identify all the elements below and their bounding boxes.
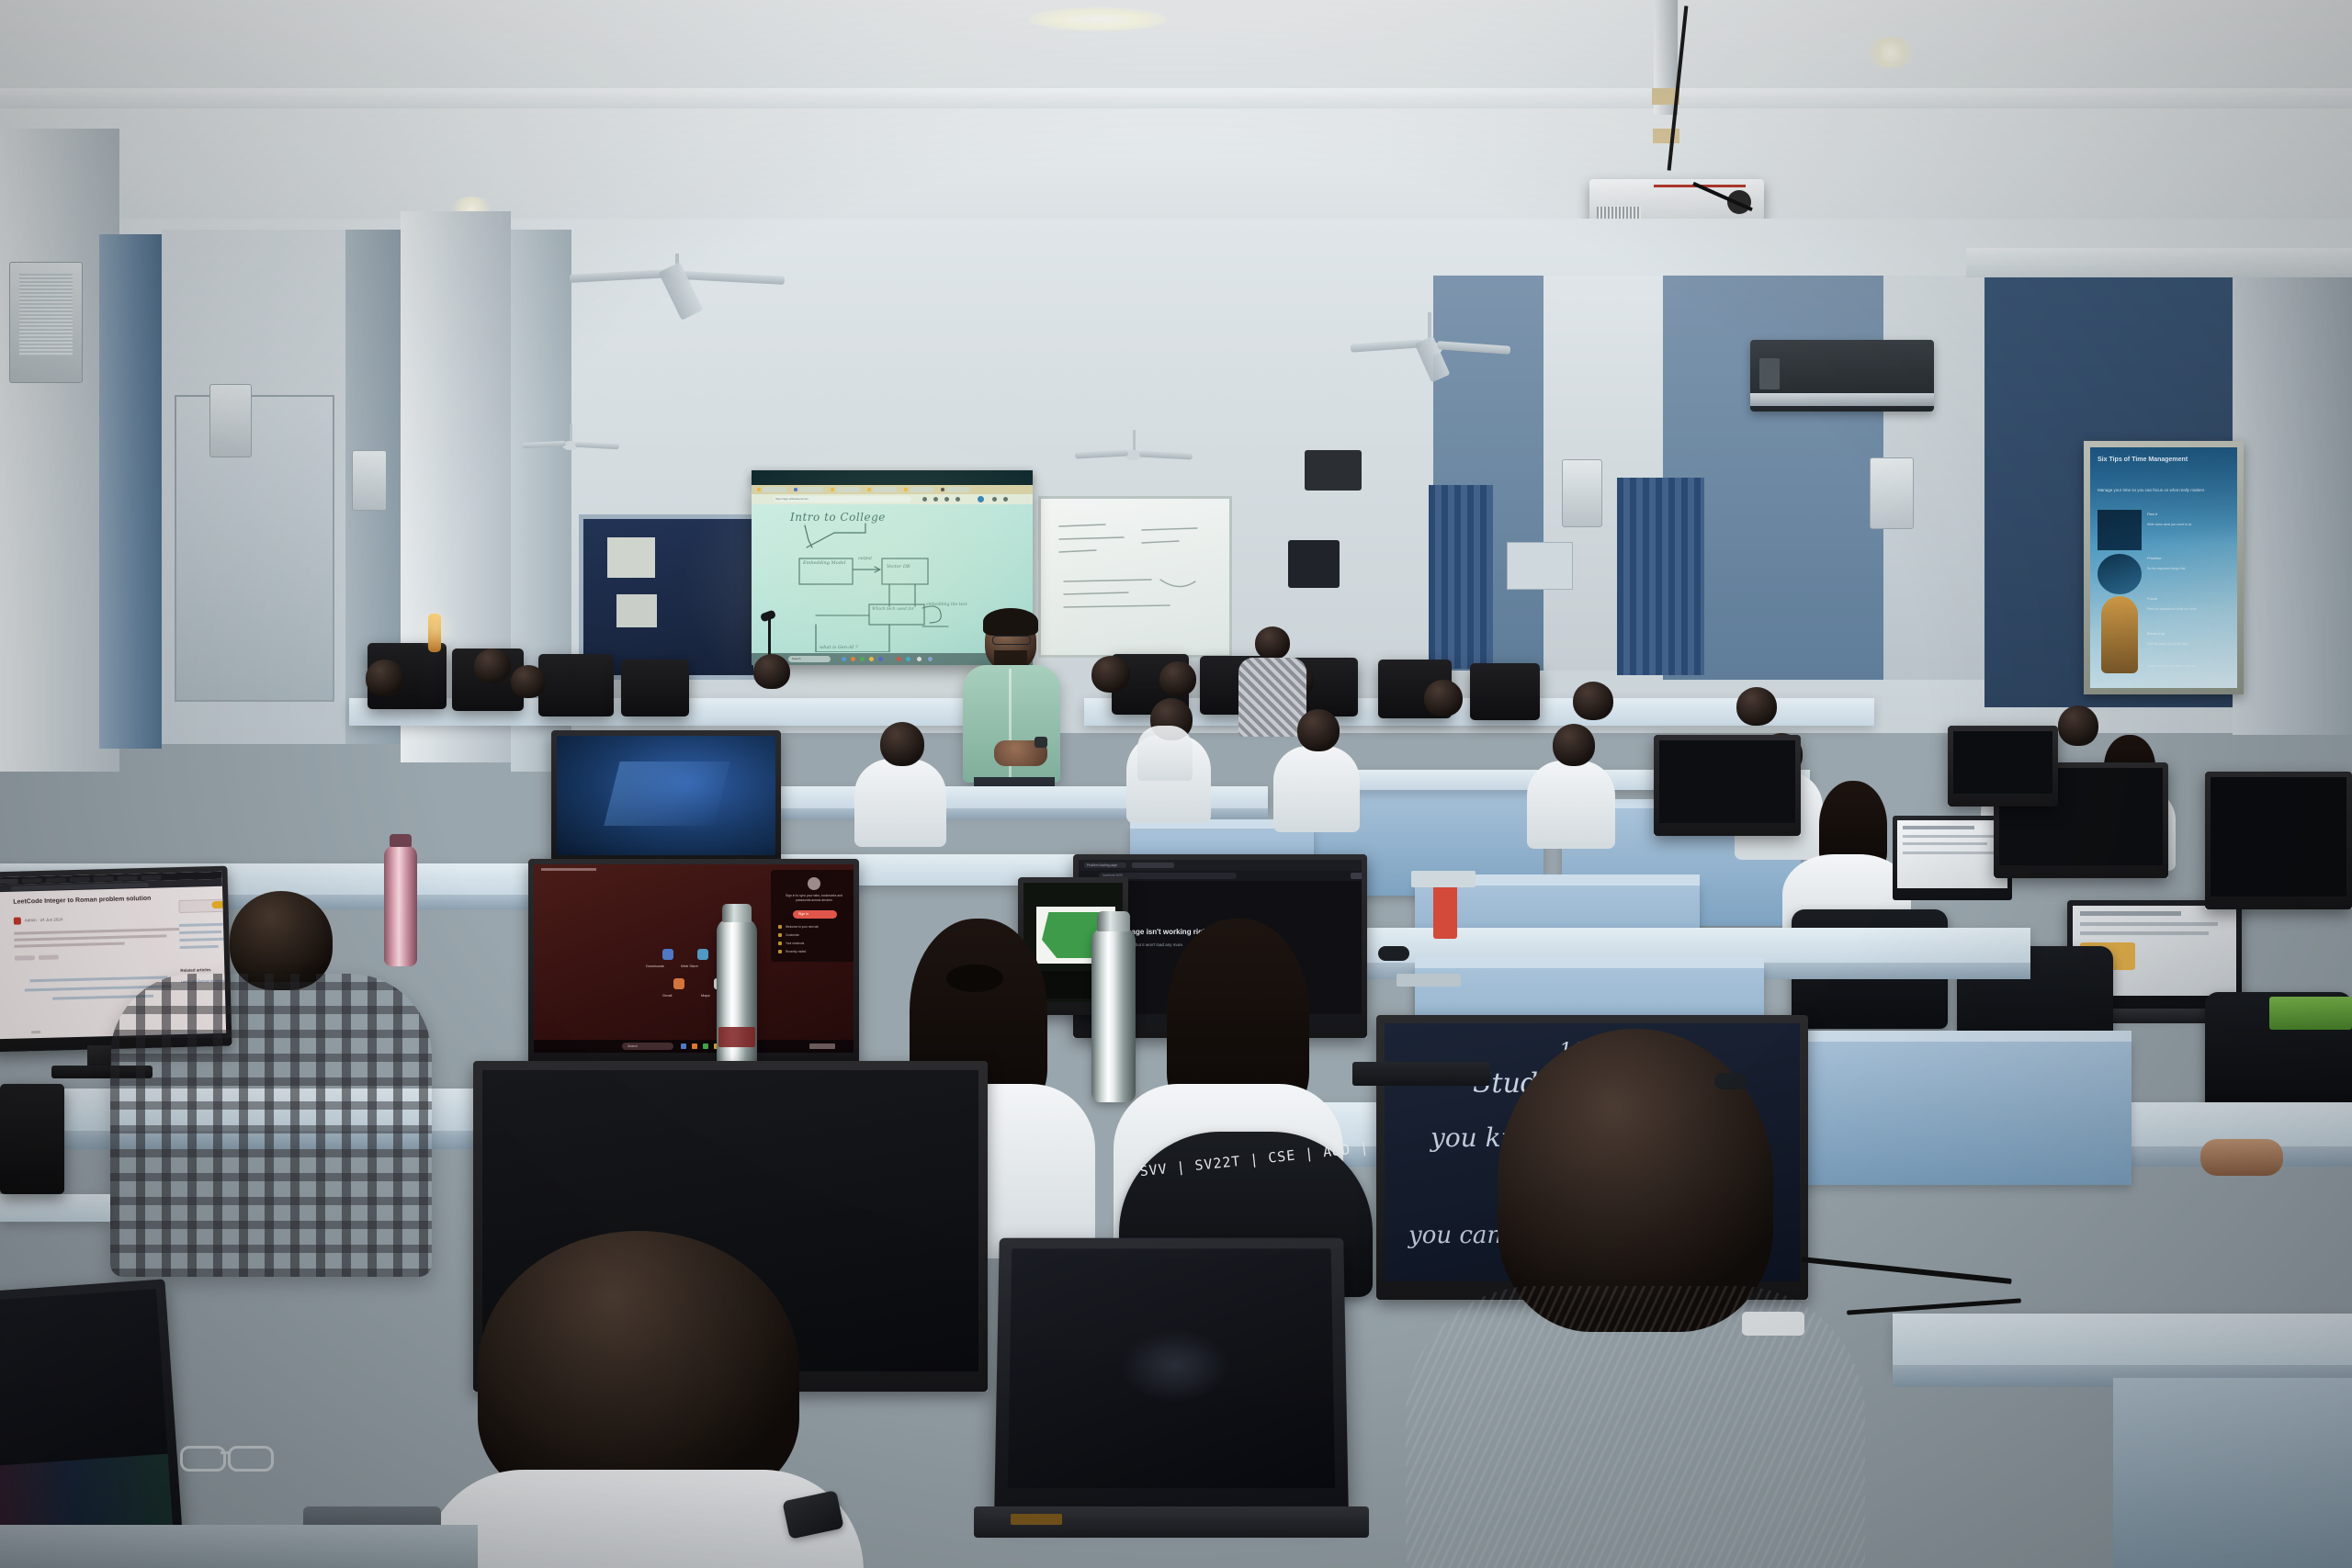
shortcut-label-4: Gmail — [662, 993, 672, 998]
cable-tray — [1396, 974, 1461, 987]
desk-bottom-right — [1893, 1314, 2352, 1369]
bottle-cap-center — [1097, 911, 1130, 931]
notice-paper-1 — [607, 537, 655, 578]
panel-list-icon-4 — [778, 950, 782, 953]
poster-item-2: Prioritise — [2147, 556, 2228, 560]
poster-item-4-text: Split big tasks into small steps — [2147, 642, 2228, 647]
laptop-fr-line-2 — [2080, 922, 2218, 926]
poster-image-3 — [2101, 596, 2138, 673]
panel-list-icon-3 — [778, 942, 782, 945]
wall-speaker-4 — [1562, 459, 1602, 527]
laptop-rm-line-4 — [1903, 852, 1998, 854]
desktop-taskbar-search-label: Search — [628, 1044, 638, 1048]
leetcode-tab-5[interactable] — [94, 875, 114, 881]
wall-pillar-blue-left — [99, 234, 162, 749]
monitor-right-dark-4 — [1948, 726, 2058, 807]
classroom-photo: Six Tips of Time Management Manage your … — [0, 0, 2352, 1568]
leetcode-pill-1[interactable] — [15, 955, 35, 961]
pink-bottle-cap — [390, 834, 412, 847]
projector-pole-tape-2 — [1653, 129, 1679, 143]
shortcut-label-2: Web Store — [681, 964, 698, 968]
leetcode-side-link-3[interactable] — [179, 938, 225, 942]
leetcode-body-line-1 — [14, 928, 179, 935]
eyeglasses-lens-left — [180, 1446, 226, 1472]
ac-louver — [1750, 393, 1934, 406]
mouse-right-mid[interactable] — [1378, 946, 1409, 961]
power-adapter — [1742, 1312, 1804, 1336]
wall-poster: Six Tips of Time Management Manage your … — [2090, 447, 2237, 688]
eyeglasses[interactable] — [180, 1440, 281, 1468]
shortcut-label-5: Maps — [701, 993, 710, 998]
ceiling-soffit — [0, 108, 2352, 219]
leetcode-side-link-4[interactable] — [180, 945, 219, 949]
error-tab-title: Problem loading page — [1087, 863, 1117, 867]
instructor-glasses — [992, 636, 1031, 645]
assistant-head — [1255, 626, 1290, 660]
desk-side-panel-right — [2113, 1378, 2352, 1568]
leetcode-list-1 — [31, 1031, 40, 1033]
laptop-rm-line-1 — [1903, 826, 1974, 829]
panel-list-4[interactable]: Recently visited — [786, 950, 806, 953]
student-head-f3 — [511, 665, 546, 698]
student-hair-bun-center — [946, 964, 1003, 992]
leetcode-search-button[interactable] — [211, 901, 224, 908]
poster-item-3-text: Remove distractions while you work — [2147, 607, 2228, 612]
student-head-f8 — [1424, 680, 1463, 716]
signin-button-label: Sign in — [798, 912, 808, 916]
poster-item-1-text: Write down what you need to do — [2147, 523, 2228, 527]
laptop-rm-screen — [1897, 820, 2007, 888]
student-body-m2 — [1273, 746, 1360, 832]
desk-far-left-edge — [0, 1194, 110, 1222]
instructor-hair — [983, 608, 1038, 636]
poster-item-5-text: Check what you got done each day — [2147, 664, 2228, 668]
steel-bottle-center[interactable] — [1091, 928, 1136, 1102]
student-head-m2 — [1297, 709, 1340, 751]
student-head-m5 — [880, 722, 924, 766]
pink-bottle-far-left[interactable] — [384, 845, 417, 966]
leetcode-tab-3[interactable] — [46, 877, 66, 883]
monitor-right-dark-3 — [1654, 735, 1801, 836]
leetcode-side-link-1[interactable] — [179, 923, 226, 927]
eyeglasses-lens-right — [228, 1446, 274, 1472]
signin-panel: Sign in to sync your tabs, bookmarks and… — [771, 870, 854, 962]
wall-far-right — [2233, 257, 2352, 735]
laptop-fr-line-3 — [2080, 931, 2209, 935]
instructor-watch — [1035, 737, 1047, 748]
socket-box-red — [1433, 882, 1457, 939]
student-head-r3 — [2058, 705, 2098, 746]
leetcode-body-line-2 — [14, 934, 166, 941]
leetcode-tab-7[interactable] — [141, 874, 162, 880]
ceiling-light-1 — [1029, 7, 1167, 31]
laptop-front-center-screen — [1008, 1248, 1335, 1488]
poster-subtitle: Manage your time so you can focus on wha… — [2098, 488, 2208, 493]
leetcode-page-title: LeetCode Integer to Roman problem soluti… — [13, 895, 169, 907]
error-tabstrip: Problem loading page — [1079, 860, 1362, 871]
shortcut-icon-4[interactable] — [673, 978, 684, 989]
monitor-far-left-edge — [0, 1084, 64, 1194]
poster-image-1 — [2098, 510, 2142, 550]
steel-bottle-left[interactable] — [717, 919, 757, 1080]
desktop-taskbar: Search — [534, 1040, 854, 1053]
student-head-f5 — [1091, 656, 1130, 693]
ac-panel-badge — [1759, 358, 1780, 389]
student-patterned-shirt — [110, 974, 432, 1277]
wall-mounted-box — [1288, 540, 1340, 588]
fan-rod-3 — [1133, 430, 1136, 452]
tb-icon-2[interactable] — [692, 1043, 697, 1049]
leetcode-related-heading: Related articles — [180, 967, 210, 973]
laptop-bottom-left-screen — [0, 1289, 173, 1542]
student-head-m3 — [1553, 724, 1595, 766]
leetcode-link-line-1[interactable] — [30, 976, 168, 982]
socket-box-top — [1411, 871, 1476, 887]
wall-speaker-mid — [209, 384, 252, 457]
error-tab-2[interactable] — [1132, 863, 1174, 868]
green-notebook — [2269, 997, 2352, 1030]
shortcut-icon-2[interactable] — [697, 949, 708, 960]
fan-rod-4 — [570, 424, 572, 443]
wall-speaker-3 — [352, 450, 387, 511]
student-head-f9 — [1573, 682, 1613, 720]
laptop-front-center[interactable] — [994, 1238, 1349, 1513]
door-left[interactable] — [175, 395, 334, 702]
person-foot-right — [2200, 1139, 2283, 1176]
poster-item-1: Plan it — [2147, 512, 2228, 518]
leetcode-side-link-2[interactable] — [179, 931, 221, 934]
monitor-far-4 — [621, 660, 689, 716]
panel-list-icon-1 — [778, 925, 782, 929]
speaker-grille — [19, 274, 73, 356]
keyboard-right-mid[interactable] — [1352, 1062, 1490, 1086]
student-head-f2 — [474, 649, 511, 683]
assistant-checked-shirt — [1238, 658, 1306, 737]
leetcode-tab-1[interactable] — [0, 878, 18, 884]
laptop-sticker — [1011, 1514, 1062, 1525]
decor-lamp-glow — [413, 606, 458, 650]
split-ac-unit — [1750, 340, 1934, 412]
desk-cable-2 — [1847, 1298, 2021, 1314]
tb-icon-3[interactable] — [703, 1043, 708, 1049]
wall-speaker-right — [1870, 457, 1914, 529]
window-blinds-2[interactable] — [1617, 478, 1704, 675]
wall-switch-panel[interactable] — [1507, 542, 1573, 590]
tb-icon-1[interactable] — [681, 1043, 686, 1049]
student-head-front-center — [478, 1231, 799, 1506]
monitor-far-3 — [538, 654, 614, 716]
wall-poster-frame: Six Tips of Time Management Manage your … — [2084, 441, 2244, 694]
student-body-m6 — [1137, 726, 1193, 781]
shortcut-label-1: Downloads — [646, 964, 664, 968]
partition-top-5 — [1415, 957, 1764, 968]
student-head-f6 — [1159, 661, 1196, 696]
poster-item-3: Focus — [2147, 596, 2228, 601]
shortcut-icon-1[interactable] — [662, 949, 673, 960]
panel-list-3[interactable]: Your shortcuts — [786, 942, 804, 945]
leetcode-byline: Admin · 24 Jun 2024 — [25, 917, 63, 922]
poster-image-2 — [2098, 554, 2142, 594]
wall-right-cornice — [1966, 248, 2352, 277]
leetcode-tab-2[interactable] — [22, 877, 42, 883]
monitor-right-dark-2 — [2205, 772, 2352, 909]
ceiling-panel-band — [0, 0, 2352, 88]
monitor-blue-windows-wallpaper[interactable] — [551, 730, 781, 868]
laptop-screen-reflection — [1120, 1329, 1230, 1403]
eyeglasses-bridge — [220, 1451, 230, 1454]
bottle-label-left — [718, 1027, 755, 1047]
leetcode-address-bar[interactable] — [11, 882, 149, 890]
poster-title: Six Tips of Time Management — [2098, 457, 2199, 465]
signin-panel-text: Sign in to sync your tabs, bookmarks and… — [778, 894, 850, 903]
desk-cable-1 — [1801, 1257, 2011, 1284]
student-body-m5 — [854, 759, 946, 847]
win-wallpaper-shape — [604, 761, 729, 826]
panel-list-icon-2 — [778, 933, 782, 937]
leetcode-tab-6[interactable] — [118, 875, 138, 881]
laptop-rm-line-2 — [1903, 835, 1995, 838]
wall-speaker-left — [9, 262, 83, 383]
notice-paper-2 — [616, 594, 657, 627]
downlight-1 — [1865, 37, 1917, 68]
floor-strip — [0, 1525, 478, 1568]
leetcode-author-avatar — [14, 918, 21, 925]
leetcode-tab-4[interactable] — [70, 876, 90, 882]
student-head-f4 — [753, 654, 790, 689]
panel-list-1[interactable]: Welcome to your new tab — [786, 925, 819, 929]
monitor-far-9 — [1470, 663, 1540, 720]
chair-asset-tag: SVV | SV22T | CSE | A&D | CACC | 317 — [1139, 1141, 1357, 1180]
wall-cctv-camera — [1305, 450, 1362, 491]
panel-list-2[interactable]: Customize — [786, 933, 799, 937]
laptop-rm-line-3 — [1903, 842, 1987, 845]
bottle-cap-left — [722, 904, 752, 922]
student-head-f10 — [1736, 687, 1777, 726]
signin-avatar-icon — [808, 877, 820, 890]
error-profile-chip[interactable] — [1351, 873, 1362, 879]
leetcode-list-2 — [31, 1038, 40, 1039]
student-head-f1 — [366, 660, 404, 696]
mouse-front-right[interactable] — [1714, 1073, 1747, 1089]
leetcode-pill-2[interactable] — [39, 954, 59, 960]
student-body-m3 — [1527, 761, 1615, 849]
tb-clock — [809, 1043, 835, 1049]
poster-item-4: Break it up — [2147, 631, 2228, 636]
window-blinds-1[interactable] — [1429, 485, 1493, 669]
monitor-dark-desktop[interactable]: Downloads Web Store YouTube Gmail Maps S… — [528, 859, 859, 1066]
leetcode-body-line-3 — [15, 942, 125, 948]
laptop-fr-line-1 — [2080, 911, 2181, 916]
ceiling-beam — [0, 88, 2352, 108]
poster-item-2-text: Do the important things first — [2147, 567, 2228, 571]
desktop-url-hint — [541, 868, 596, 871]
